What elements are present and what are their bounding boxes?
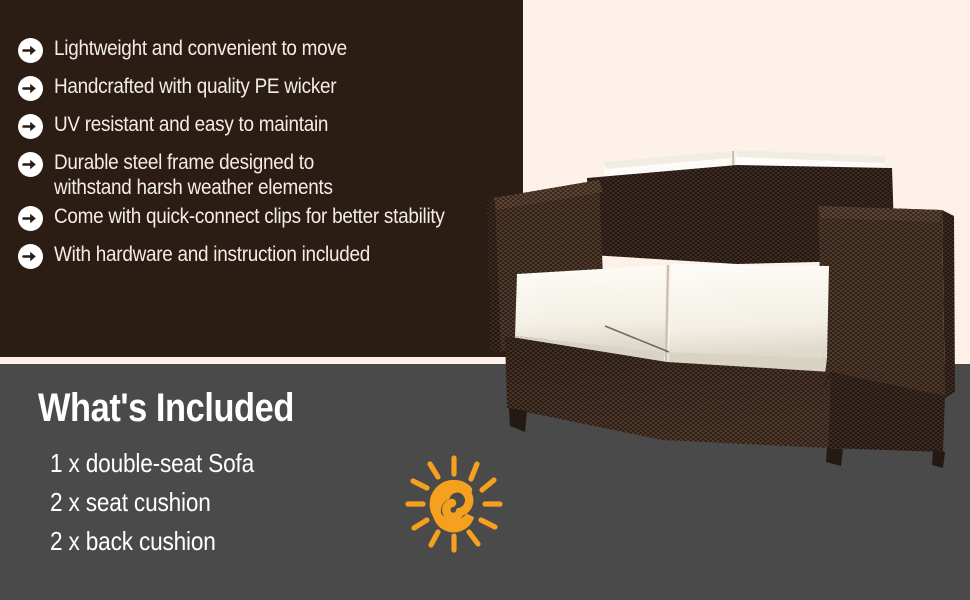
arrow-circle-right-icon [18, 244, 43, 269]
whats-included-title: What's Included [38, 386, 455, 430]
feature-item: UV resistant and easy to maintain [18, 112, 509, 139]
arrow-circle-right-icon [18, 76, 43, 101]
feature-item: Handcrafted with quality PE wicker [18, 74, 509, 101]
sun-icon [398, 448, 510, 560]
feature-item: With hardware and instruction included [18, 242, 509, 269]
arrow-circle-right-icon [18, 38, 43, 63]
feature-item: Durable steel frame designed to withstan… [18, 150, 509, 200]
feature-item-label: Lightweight and convenient to move [54, 36, 454, 61]
feature-item-label: Handcrafted with quality PE wicker [54, 74, 454, 99]
feature-item-label: Come with quick-connect clips for better… [54, 204, 454, 229]
arrow-circle-right-icon [18, 206, 43, 231]
feature-item-label: With hardware and instruction included [54, 242, 454, 267]
feature-list: Lightweight and convenient to move Handc… [0, 0, 523, 357]
feature-item-label: UV resistant and easy to maintain [54, 112, 454, 137]
feature-item-label: Durable steel frame designed to withstan… [54, 150, 454, 200]
feature-item: Lightweight and convenient to move [18, 36, 509, 63]
arrow-circle-right-icon [18, 152, 43, 177]
arrow-circle-right-icon [18, 114, 43, 139]
product-photo-wicker-loveseat [487, 140, 957, 470]
product-feature-banner: Lightweight and convenient to move Handc… [0, 0, 970, 600]
feature-item: Come with quick-connect clips for better… [18, 204, 509, 231]
